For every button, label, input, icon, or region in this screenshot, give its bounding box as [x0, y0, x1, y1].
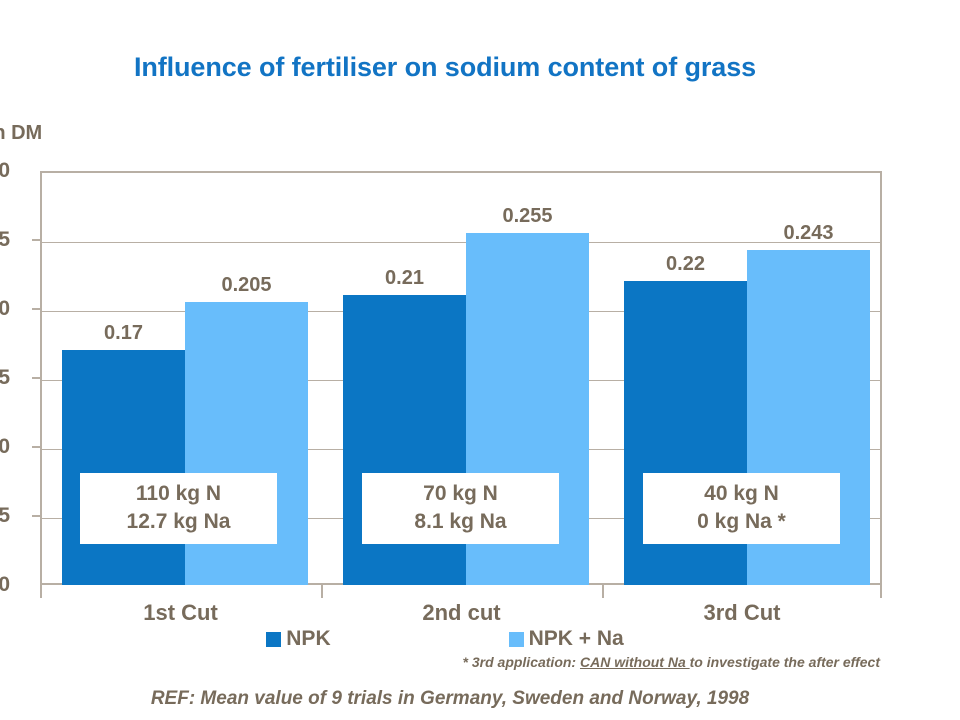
ytick-mark-1 — [32, 239, 40, 241]
ytick-mark-4 — [32, 446, 40, 448]
ytick-label-0: 30 — [0, 159, 10, 183]
ytick-label-3: 5 — [0, 366, 10, 390]
legend-item-npk-na[interactable]: NPK + Na — [509, 627, 624, 651]
legend-swatch-npk-icon — [266, 632, 281, 647]
callout-2nd-cut-line2: 8.1 kg Na — [362, 508, 559, 536]
callout-2nd-cut: 70 kg N 8.1 kg Na — [362, 473, 559, 544]
callout-2nd-cut-line1: 70 kg N — [362, 480, 559, 508]
legend-label-npk-na: NPK + Na — [529, 627, 624, 651]
callout-1st-cut-line2: 12.7 kg Na — [80, 508, 277, 536]
bar-npk-1st-cut[interactable] — [62, 350, 185, 585]
y-axis-title: n in DM — [0, 122, 42, 145]
legend-label-npk: NPK — [286, 627, 330, 651]
bar-value-npk-3rd-cut: 0.22 — [624, 253, 747, 276]
category-label-1st-cut: 1st Cut — [40, 600, 321, 626]
ytick-label-2: 20 — [0, 297, 10, 321]
callout-3rd-cut-line1: 40 kg N — [643, 480, 840, 508]
legend-item-npk[interactable]: NPK — [266, 627, 330, 651]
footnote-prefix: * 3rd application: — [463, 654, 580, 670]
callout-3rd-cut-line2: 0 kg Na * — [643, 508, 840, 536]
legend-swatch-npk-na-icon — [509, 632, 524, 647]
bar-value-npk-na-3rd-cut: 0.243 — [747, 222, 870, 245]
reference-note: REF: Mean value of 9 trials in Germany, … — [0, 688, 900, 710]
bar-value-npk-2nd-cut: 0.21 — [343, 267, 466, 290]
chart-title: Influence of fertiliser on sodium conten… — [0, 52, 890, 83]
footnote: * 3rd application: CAN without Na to inv… — [0, 654, 880, 670]
ytick-mark-2 — [32, 308, 40, 310]
ytick-mark-3 — [32, 377, 40, 379]
ytick-label-1: 25 — [0, 228, 10, 252]
category-axis — [40, 585, 882, 599]
ytick-label-6: 0 — [0, 573, 10, 597]
callout-3rd-cut: 40 kg N 0 kg Na * — [643, 473, 840, 544]
bar-value-npk-1st-cut: 0.17 — [62, 322, 185, 345]
footnote-underlined: CAN without Na — [580, 654, 690, 670]
category-separator-left — [40, 585, 42, 598]
category-separator-right — [880, 585, 882, 598]
callout-1st-cut-line1: 110 kg N — [80, 480, 277, 508]
ytick-mark-5 — [32, 515, 40, 517]
ytick-label-4: 0 — [0, 435, 10, 459]
bar-value-npk-na-1st-cut: 0.205 — [185, 274, 308, 297]
category-label-2nd-cut: 2nd cut — [321, 600, 602, 626]
category-label-3rd-cut: 3rd Cut — [602, 600, 882, 626]
footnote-suffix: to investigate the after effect — [690, 654, 880, 670]
category-separator-1 — [321, 585, 323, 598]
ytick-label-5: 5 — [0, 504, 10, 528]
category-separator-2 — [602, 585, 604, 598]
chart-legend: NPK NPK + Na — [0, 627, 890, 651]
callout-1st-cut: 110 kg N 12.7 kg Na — [80, 473, 277, 544]
bar-value-npk-na-2nd-cut: 0.255 — [466, 205, 589, 228]
